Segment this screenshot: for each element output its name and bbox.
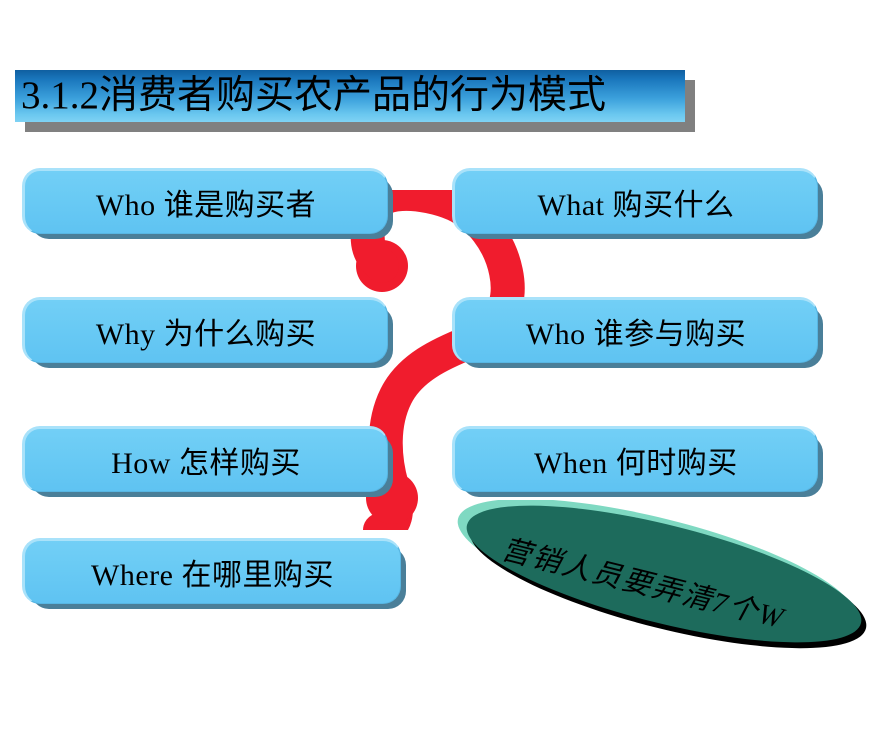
red-curve-ball-top xyxy=(356,240,408,292)
box-body[interactable]: What 购买什么 xyxy=(452,168,818,234)
box-body[interactable]: Why 为什么购买 xyxy=(22,297,388,363)
summary-callout-ellipse[interactable]: 营销人员要弄清7个W xyxy=(452,500,872,650)
box-body[interactable]: Where 在哪里购买 xyxy=(22,538,401,604)
box-label: When 何时购买 xyxy=(534,438,738,482)
concept-box-who-participates[interactable]: Who 谁参与购买 xyxy=(452,297,814,359)
page-title: 3.1.2消费者购买农产品的行为模式 xyxy=(15,76,606,115)
concept-box-what-buy[interactable]: What 购买什么 xyxy=(452,168,814,230)
slide-canvas: 3.1.2消费者购买农产品的行为模式 Who 谁是购买者 What 购买什么 W… xyxy=(0,0,888,735)
slide-title-banner: 3.1.2消费者购买农产品的行为模式 xyxy=(15,70,685,122)
concept-box-where-buy[interactable]: Where 在哪里购买 xyxy=(22,538,397,600)
box-label: What 购买什么 xyxy=(538,180,735,224)
concept-box-how-buy[interactable]: How 怎样购买 xyxy=(22,426,384,488)
box-body[interactable]: How 怎样购买 xyxy=(22,426,388,492)
title-banner-body: 3.1.2消费者购买农产品的行为模式 xyxy=(15,70,685,122)
concept-box-who-buyer[interactable]: Who 谁是购买者 xyxy=(22,168,384,230)
box-label: Why 为什么购买 xyxy=(96,309,316,353)
box-label: Who 谁是购买者 xyxy=(96,180,316,224)
box-label: How 怎样购买 xyxy=(111,438,301,482)
box-label: Who 谁参与购买 xyxy=(526,309,746,353)
box-body[interactable]: Who 谁是购买者 xyxy=(22,168,388,234)
box-label: Where 在哪里购买 xyxy=(91,550,334,594)
box-body[interactable]: When 何时购买 xyxy=(452,426,818,492)
concept-box-why-buy[interactable]: Why 为什么购买 xyxy=(22,297,384,359)
box-body[interactable]: Who 谁参与购买 xyxy=(452,297,818,363)
concept-box-when-buy[interactable]: When 何时购买 xyxy=(452,426,814,488)
callout-ellipse-graphic[interactable]: 营销人员要弄清7个W xyxy=(452,500,872,650)
